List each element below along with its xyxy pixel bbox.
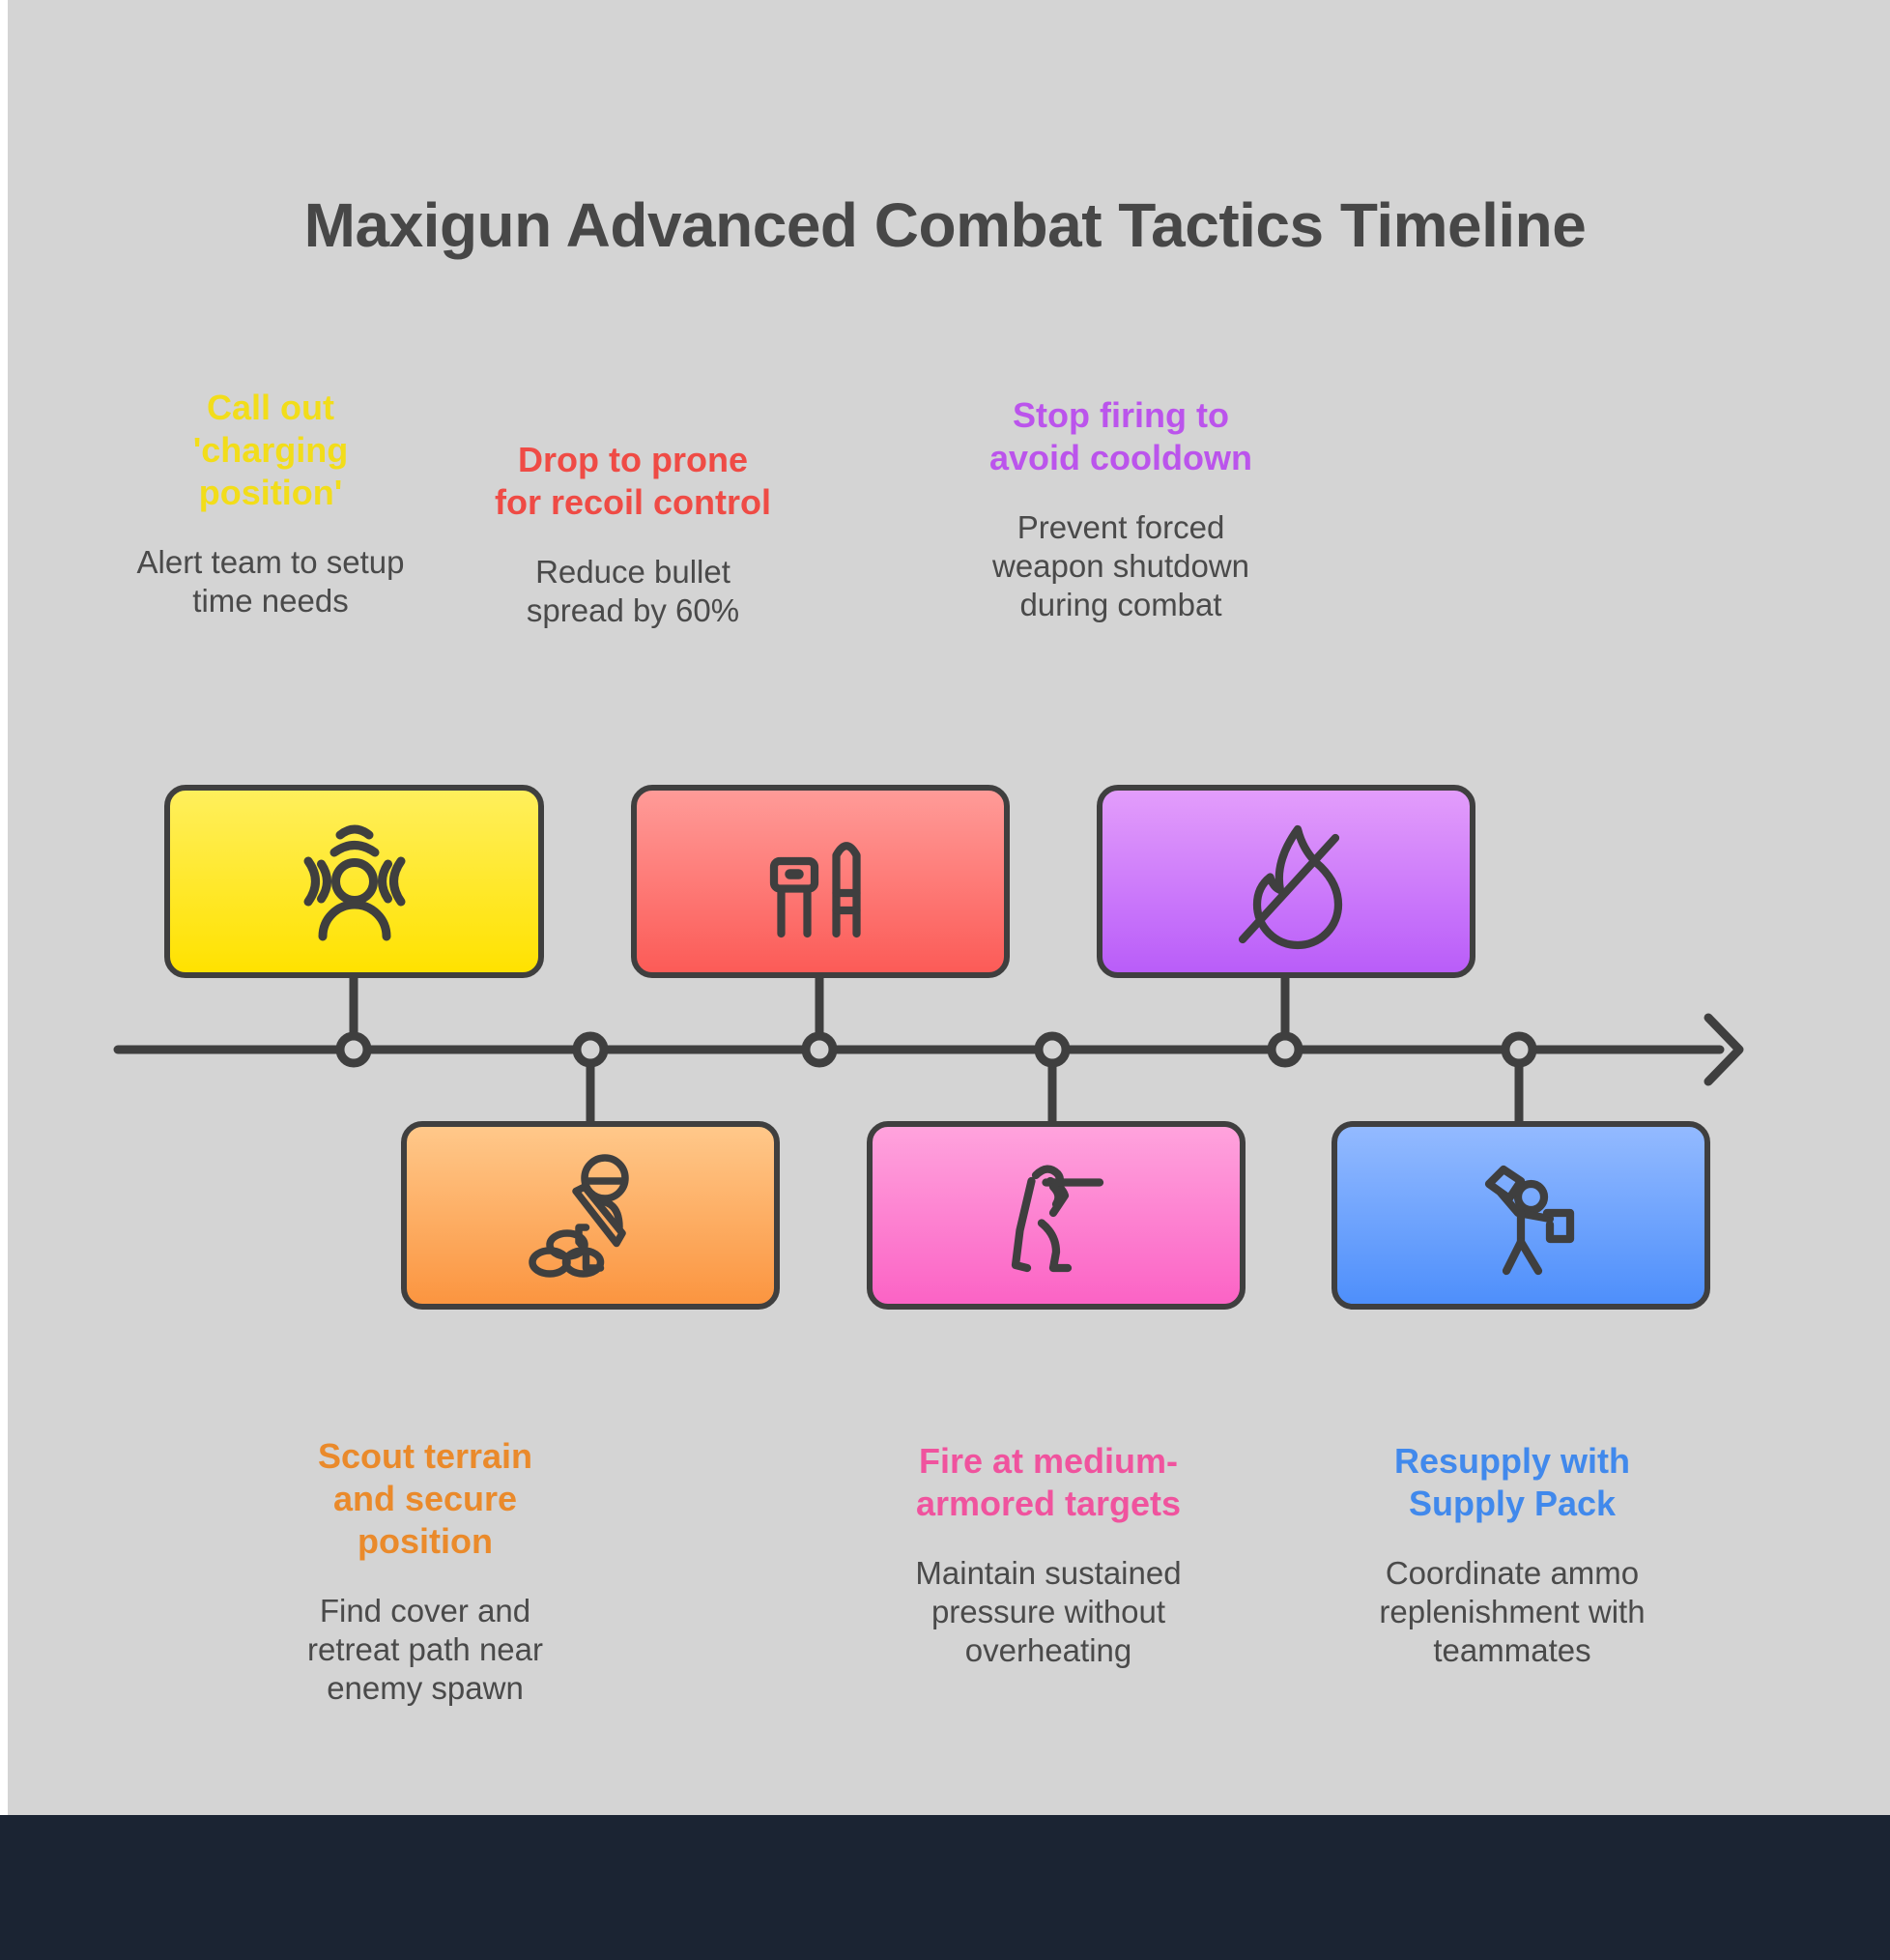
timeline-description-5: Maintain sustained pressure without over… xyxy=(879,1554,1217,1671)
heading-line: position' xyxy=(116,472,425,514)
timeline-heading-4: Scout terrain and secure position xyxy=(271,1435,580,1563)
heading-line: Supply Pack xyxy=(1338,1483,1686,1525)
timeline-description-2: Reduce bullet spread by 60% xyxy=(473,553,792,631)
timeline-heading-5: Fire at medium- armored targets xyxy=(879,1440,1217,1525)
left-edge-strip xyxy=(0,0,8,1815)
desc-line: Coordinate ammo xyxy=(1338,1554,1686,1593)
timeline-text-5: Fire at medium- armored targets Maintain… xyxy=(879,1440,1217,1671)
timeline-description-6: Coordinate ammo replenishment with teamm… xyxy=(1338,1554,1686,1671)
axis-node-2 xyxy=(577,1036,604,1063)
timeline-text-1: Call out 'charging position' Alert team … xyxy=(116,387,425,620)
bipod-bullet-icon xyxy=(748,809,893,954)
timeline-heading-1: Call out 'charging position' xyxy=(116,387,425,514)
desc-line: overheating xyxy=(879,1631,1217,1670)
desc-line: enemy spawn xyxy=(271,1669,580,1708)
heading-line: Stop firing to xyxy=(966,394,1275,437)
desc-line: weapon shutdown xyxy=(966,547,1275,586)
shouting-person-icon xyxy=(282,809,427,954)
desc-line: retreat path near xyxy=(271,1630,580,1669)
timeline-card-3[interactable] xyxy=(1097,785,1475,978)
heading-line: Drop to prone xyxy=(473,439,792,481)
desc-line: time needs xyxy=(116,582,425,620)
timeline-description-4: Find cover and retreat path near enemy s… xyxy=(271,1592,580,1709)
footer-bar xyxy=(0,1815,1890,1960)
heading-line: Resupply with xyxy=(1338,1440,1686,1483)
page-title: Maxigun Advanced Combat Tactics Timeline xyxy=(0,189,1890,261)
desc-line: Maintain sustained xyxy=(879,1554,1217,1593)
timeline-heading-6: Resupply with Supply Pack xyxy=(1338,1440,1686,1525)
heading-line: 'charging xyxy=(116,429,425,472)
heading-line: avoid cooldown xyxy=(966,437,1275,479)
timeline-description-3: Prevent forced weapon shutdown during co… xyxy=(966,508,1275,625)
axis-node-4 xyxy=(1039,1036,1066,1063)
desc-line: spread by 60% xyxy=(473,591,792,630)
infographic-canvas: Maxigun Advanced Combat Tactics Timeline… xyxy=(0,0,1890,1960)
timeline-heading-3: Stop firing to avoid cooldown xyxy=(966,394,1275,479)
axis-node-5 xyxy=(1272,1036,1299,1063)
desc-line: Reduce bullet xyxy=(473,553,792,591)
soldier-aiming-rifle-icon xyxy=(984,1143,1129,1288)
axis-node-6 xyxy=(1505,1036,1532,1063)
heading-line: Fire at medium- xyxy=(879,1440,1217,1483)
soldier-behind-sandbags-icon xyxy=(518,1143,663,1288)
timeline-heading-2: Drop to prone for recoil control xyxy=(473,439,792,524)
axis-arrow-icon xyxy=(1708,1018,1739,1081)
heading-line: Call out xyxy=(116,387,425,429)
timeline-card-2[interactable] xyxy=(631,785,1010,978)
desc-line: Find cover and xyxy=(271,1592,580,1630)
timeline-description-1: Alert team to setup time needs xyxy=(116,543,425,621)
axis-node-1 xyxy=(340,1036,367,1063)
timeline-card-1[interactable] xyxy=(164,785,544,978)
timeline-text-4: Scout terrain and secure position Find c… xyxy=(271,1435,580,1708)
desc-line: during combat xyxy=(966,586,1275,624)
timeline-text-3: Stop firing to avoid cooldown Prevent fo… xyxy=(966,394,1275,625)
timeline-card-4[interactable] xyxy=(401,1121,780,1310)
heading-line: armored targets xyxy=(879,1483,1217,1525)
timeline-text-2: Drop to prone for recoil control Reduce … xyxy=(473,439,792,630)
timeline-text-6: Resupply with Supply Pack Coordinate amm… xyxy=(1338,1440,1686,1671)
heading-line: and secure xyxy=(271,1478,580,1520)
desc-line: Alert team to setup xyxy=(116,543,425,582)
desc-line: replenishment with xyxy=(1338,1593,1686,1631)
heading-line: for recoil control xyxy=(473,481,792,524)
timeline-card-5[interactable] xyxy=(867,1121,1246,1310)
desc-line: pressure without xyxy=(879,1593,1217,1631)
desc-line: Prevent forced xyxy=(966,508,1275,547)
desc-line: teammates xyxy=(1338,1631,1686,1670)
no-fire-icon xyxy=(1214,809,1359,954)
heading-line: position xyxy=(271,1520,580,1563)
heading-line: Scout terrain xyxy=(271,1435,580,1478)
timeline-card-6[interactable] xyxy=(1332,1121,1710,1310)
axis-node-3 xyxy=(806,1036,833,1063)
supply-drop-person-icon xyxy=(1448,1143,1593,1288)
